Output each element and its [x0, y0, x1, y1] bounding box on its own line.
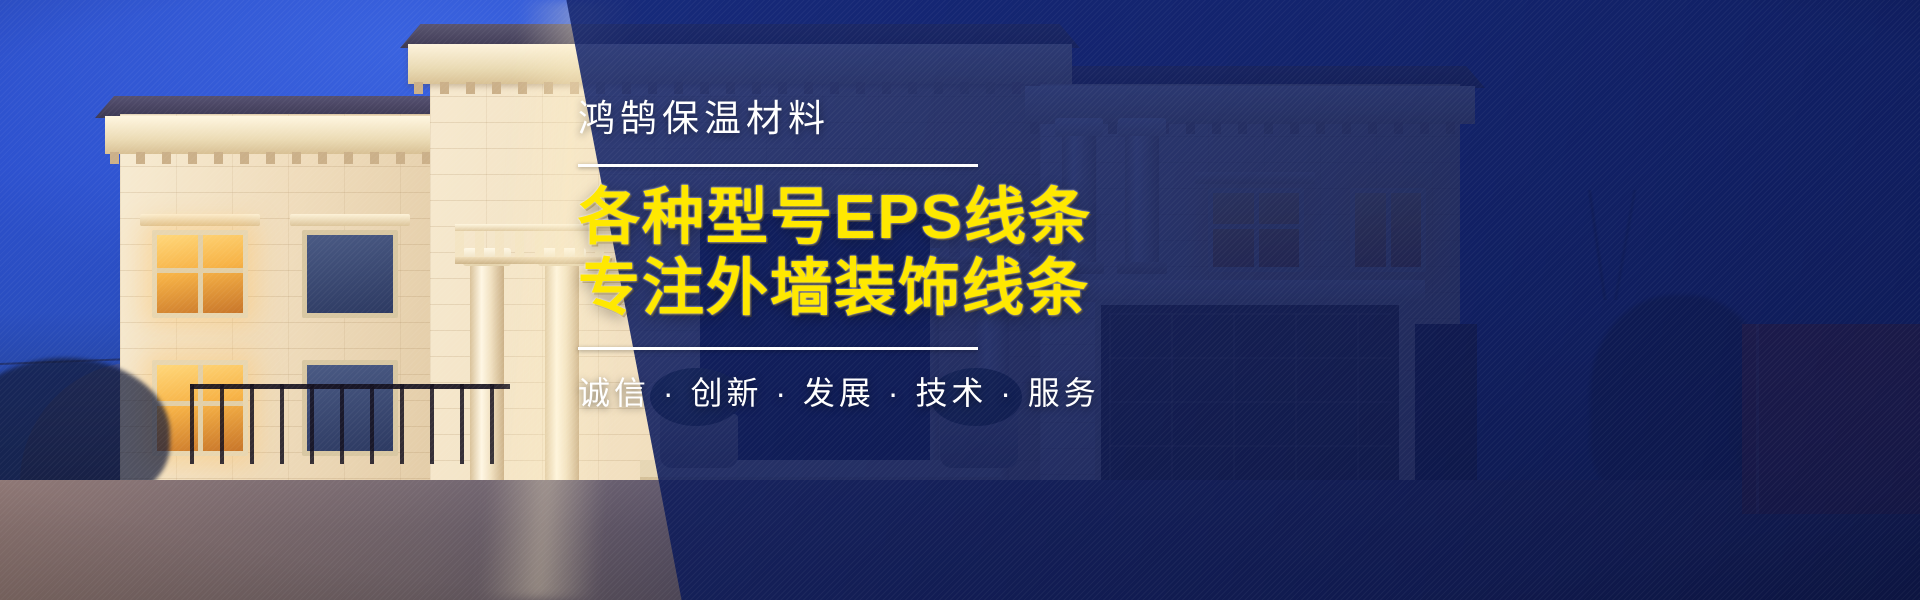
headline-line-1: 各种型号EPS线条 [578, 183, 1278, 254]
divider-top [578, 164, 978, 167]
divider-bottom [578, 347, 978, 350]
left-wing-cornice [105, 116, 467, 154]
banner-copy: 鸿鹄保温材料 各种型号EPS线条 专注外墙装饰线条 诚信 · 创新 · 发展 ·… [578, 96, 1278, 414]
left-window-hood-upper-2 [290, 214, 410, 226]
window-left-upper-2 [302, 230, 398, 318]
left-window-hood-upper [140, 214, 260, 226]
tagline: 诚信 · 创新 · 发展 · 技术 · 服务 [578, 368, 1278, 414]
promo-banner: 鸿鹄保温材料 各种型号EPS线条 专注外墙装饰线条 诚信 · 创新 · 发展 ·… [0, 0, 1920, 600]
headline-line-2: 专注外墙装饰线条 [578, 254, 1278, 325]
left-dentils [110, 152, 462, 164]
window-left-upper [152, 230, 248, 318]
brand-name: 鸿鹄保温材料 [578, 96, 1278, 142]
iron-railing [190, 384, 510, 464]
